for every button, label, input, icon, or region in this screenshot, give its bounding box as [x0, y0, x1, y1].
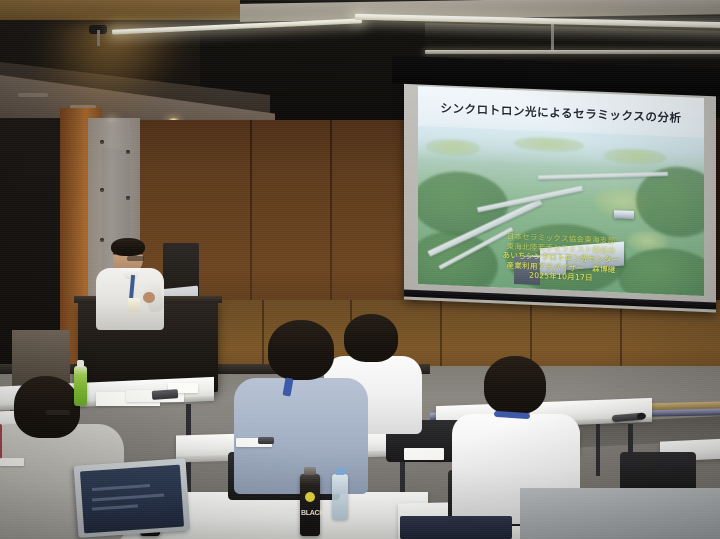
form-tie-hole [100, 238, 104, 242]
handout-papers [404, 448, 444, 460]
chair [620, 452, 696, 492]
attendee-4-lanyard [0, 424, 2, 462]
ceiling-vent-slot [18, 93, 48, 97]
slide-surface: シンクロトロン光によるセラミックスの分析 日本セラミックス協会東海支部 東海北陸… [418, 86, 704, 296]
handout-papers [0, 458, 24, 466]
form-tie-hole [100, 140, 104, 144]
light-stem [551, 22, 554, 52]
pen [258, 437, 274, 444]
form-tie-hole [126, 150, 130, 154]
table-leg [596, 424, 600, 476]
speaker-glasses [127, 256, 144, 261]
attendee-3-head [484, 356, 546, 414]
speaker-name-badge [128, 298, 140, 312]
bottle-label-dot [305, 492, 315, 502]
speaker-hair [111, 238, 145, 256]
attendee-4-head [14, 376, 80, 438]
slide-title: シンクロトロン光によるセラミックスの分析 [418, 99, 704, 127]
ceiling-light-strip [425, 50, 720, 54]
form-tie-hole [126, 196, 130, 200]
bottle-brand-label: BLACK [301, 510, 324, 517]
foreground-desk-panel [520, 488, 720, 539]
black-coffee-bottle[interactable] [300, 474, 320, 536]
foreground-folder [400, 516, 512, 539]
smartphone[interactable] [152, 389, 179, 400]
attendee-4-glasses [46, 410, 70, 415]
presentation-room-photo: シンクロトロン光によるセラミックスの分析 日本セラミックス協会東海支部 東海北陸… [0, 0, 720, 539]
light-stem [97, 30, 100, 46]
speaker-hand [143, 292, 155, 303]
ceiling-soffit-left [0, 0, 240, 20]
clear-water-bottle[interactable] [332, 474, 348, 520]
attendee-2-head [344, 314, 398, 362]
projection-screen[interactable]: シンクロトロン光によるセラミックスの分析 日本セラミックス協会東海支部 東海北陸… [418, 86, 704, 296]
aerial-building-small [614, 210, 634, 219]
green-tea-bottle[interactable] [74, 366, 87, 406]
attendee-1-head [268, 320, 334, 380]
form-tie-hole [100, 188, 104, 192]
